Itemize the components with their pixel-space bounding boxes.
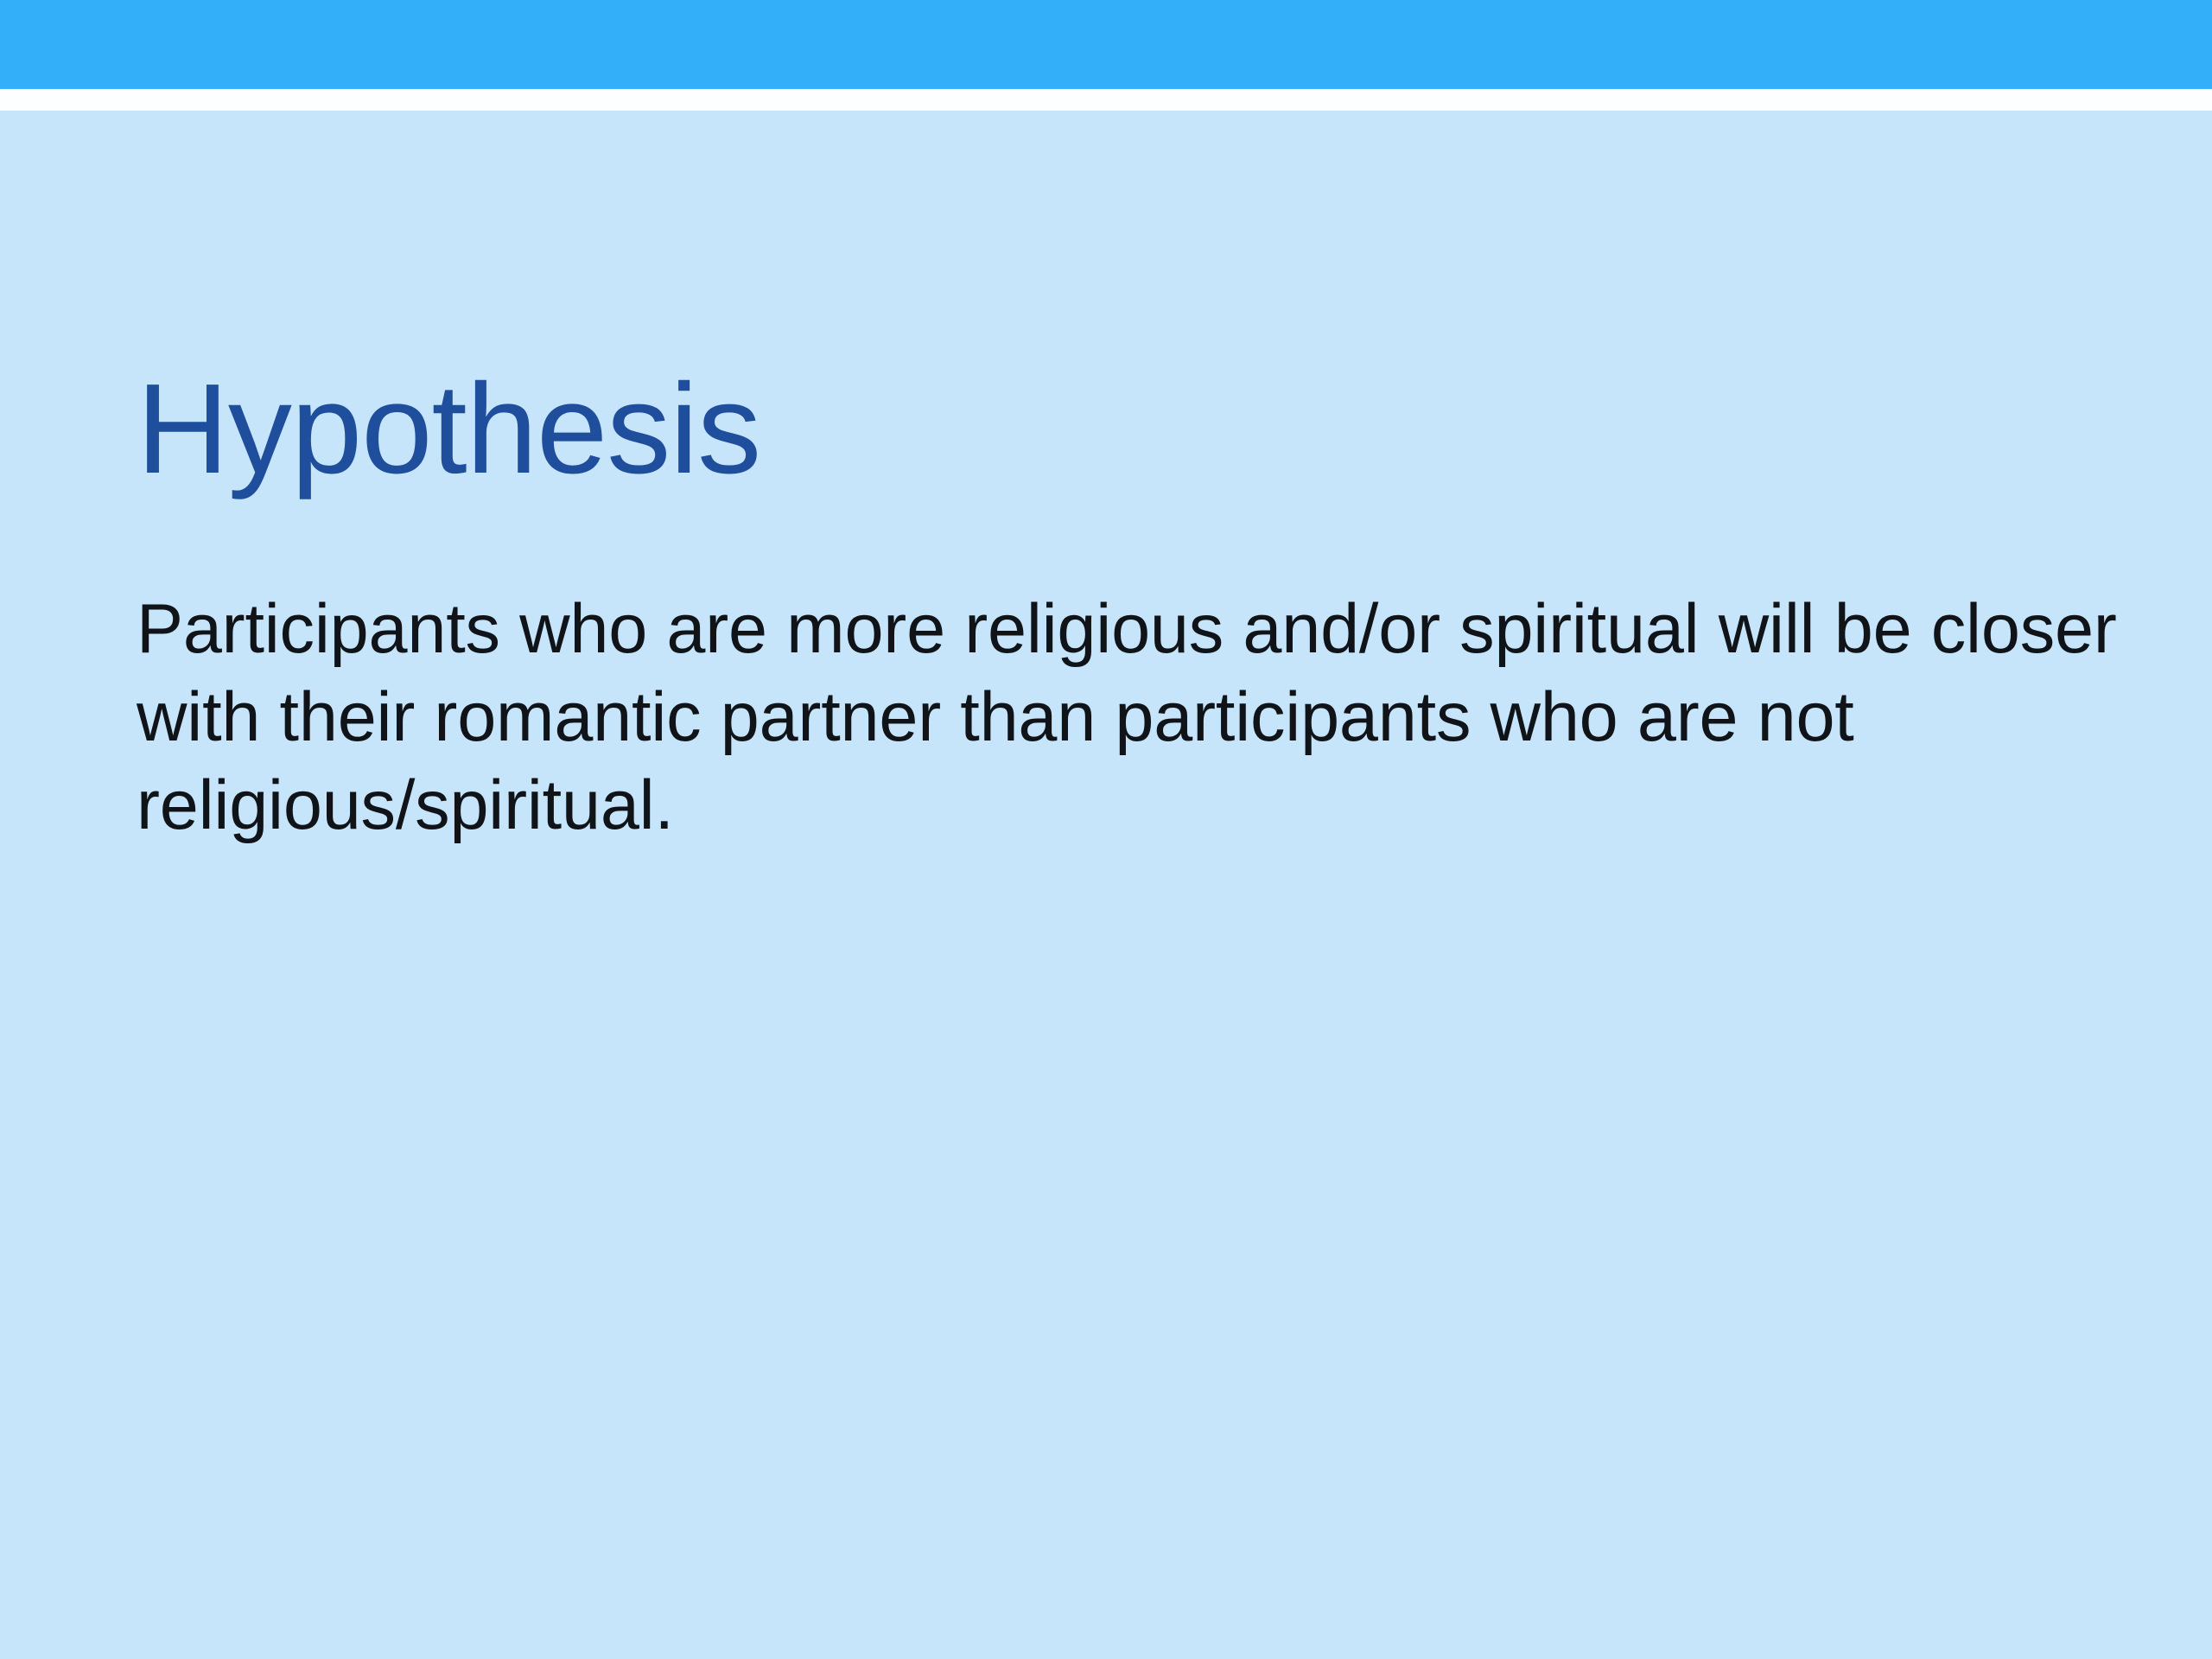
presentation-slide: Hypothesis Participants who are more rel…	[0, 0, 2212, 1659]
slide-body-paragraph: Participants who are more religious and/…	[137, 585, 2124, 849]
banner-separator-strip	[0, 89, 2212, 111]
page-title: Hypothesis	[137, 365, 2081, 493]
slide-content-area: Hypothesis Participants who are more rel…	[0, 111, 2212, 1659]
top-accent-banner	[0, 0, 2212, 89]
